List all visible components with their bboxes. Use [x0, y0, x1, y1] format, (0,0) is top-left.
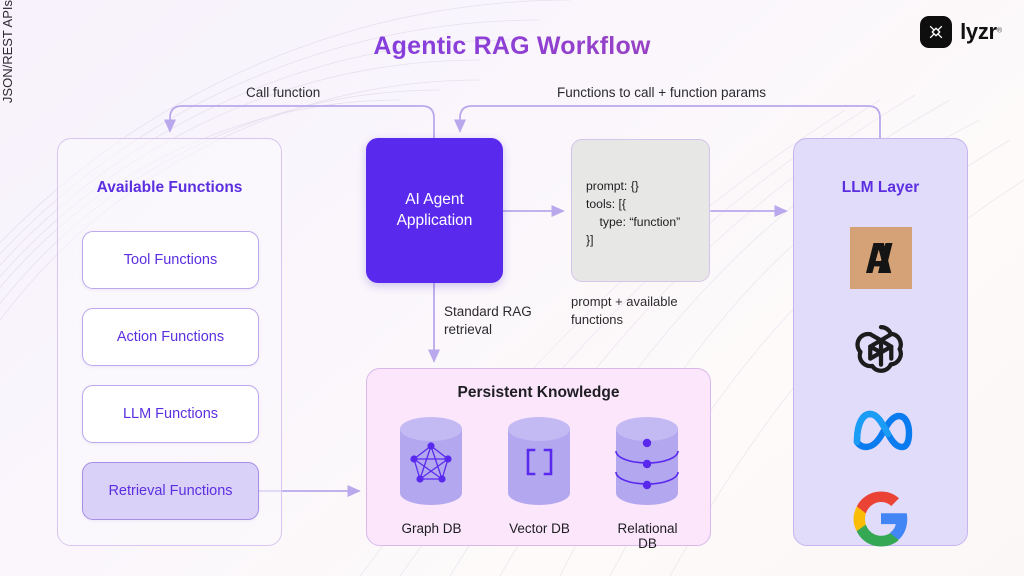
agent-title-line1: AI Agent — [397, 190, 473, 211]
code-block-caption: prompt + available functions — [571, 293, 731, 328]
database-vector-db[interactable]: Vector DB — [502, 415, 577, 536]
provider-anthropic[interactable] — [850, 227, 912, 294]
label-call-function: Call function — [246, 85, 320, 100]
available-functions-title: Available Functions — [58, 179, 281, 197]
agent-title-line2: Application — [397, 211, 473, 232]
page-title: Agentic RAG Workflow — [0, 32, 1024, 61]
prompt-tools-code-block: prompt: {} tools: [{ type: “function” }] — [571, 139, 710, 282]
function-box-retrieval[interactable]: Retrieval Functions — [82, 462, 259, 520]
label-functions-to-call: Functions to call + function params — [557, 85, 766, 100]
google-logo-icon — [851, 489, 911, 549]
diagram-canvas: Agentic RAG Workflow lyzr® — [0, 0, 1024, 576]
llm-layer-title: LLM Layer — [794, 179, 967, 197]
vector-db-icon — [502, 415, 577, 507]
brand-wordmark: lyzr® — [960, 19, 1002, 45]
llm-layer-panel: LLM Layer — [793, 138, 968, 546]
ai-agent-application-node[interactable]: AI Agent Application — [366, 138, 503, 283]
label-json-rest-apis: JSON/REST APIs — [0, 0, 20, 103]
provider-meta[interactable] — [849, 403, 913, 462]
function-box-llm[interactable]: LLM Functions — [82, 385, 259, 443]
graph-db-icon — [394, 415, 469, 507]
persistent-knowledge-panel: Persistent Knowledge Graph DB — [366, 368, 711, 546]
openai-logo-icon — [850, 315, 912, 377]
database-label-relational: Relational DB — [610, 521, 685, 551]
database-label-vector: Vector DB — [502, 521, 577, 536]
relational-db-icon — [610, 415, 685, 507]
database-label-graph: Graph DB — [394, 521, 469, 536]
label-standard-rag-retrieval: Standard RAG retrieval — [444, 303, 532, 339]
lyzr-logo-mark-icon — [920, 16, 952, 48]
database-graph-db[interactable]: Graph DB — [394, 415, 469, 536]
available-functions-panel: Available Functions Tool Functions Actio… — [57, 138, 282, 546]
function-box-tool[interactable]: Tool Functions — [82, 231, 259, 289]
provider-google[interactable] — [851, 489, 911, 554]
brand-logo: lyzr® — [920, 16, 1002, 48]
provider-openai[interactable] — [850, 315, 912, 382]
database-relational-db[interactable]: Relational DB — [610, 415, 685, 551]
anthropic-logo-icon — [850, 227, 912, 289]
function-box-action[interactable]: Action Functions — [82, 308, 259, 366]
meta-logo-icon — [849, 403, 913, 457]
persistent-knowledge-title: Persistent Knowledge — [367, 384, 710, 402]
